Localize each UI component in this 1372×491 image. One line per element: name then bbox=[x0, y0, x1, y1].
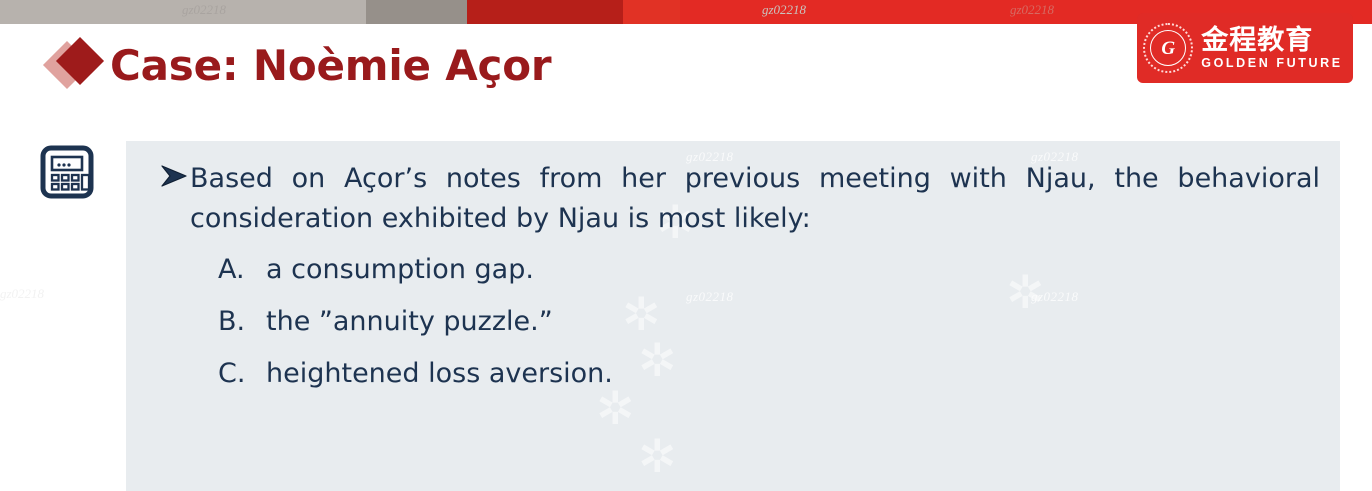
answer-option-b[interactable]: B. the ”annuity puzzle.” bbox=[218, 308, 1324, 335]
logo-chinese-name: 金程教育 bbox=[1201, 27, 1342, 54]
calculator-icon bbox=[38, 143, 96, 201]
question-panel: gz02218 gz02218 gz02218 gz02218 ✲ ✲ ✲ ✲ … bbox=[126, 141, 1340, 491]
top-bar-segment-gray bbox=[366, 0, 467, 24]
question-block: Based on Açor’s notes from her previous … bbox=[142, 159, 1324, 239]
answer-option-key: C. bbox=[218, 360, 266, 387]
arrow-bullet-icon bbox=[142, 159, 190, 192]
diamond-icon bbox=[44, 36, 110, 94]
question-text: Based on Açor’s notes from her previous … bbox=[190, 159, 1324, 239]
answer-option-label: the ”annuity puzzle.” bbox=[266, 308, 1324, 335]
top-bar-segment-light-gray bbox=[0, 0, 366, 24]
top-bar-segment-dark-red bbox=[467, 0, 623, 24]
answer-options-list: A. a consumption gap. B. the ”annuity pu… bbox=[142, 256, 1324, 387]
seal-monogram: G bbox=[1161, 39, 1175, 58]
brand-logo: G 金程教育 GOLDEN FUTURE bbox=[1137, 13, 1353, 83]
watermark-text: gz02218 bbox=[0, 286, 44, 302]
answer-option-label: a consumption gap. bbox=[266, 256, 1324, 283]
answer-option-c[interactable]: C. heightened loss aversion. bbox=[218, 360, 1324, 387]
page-header: Case: Noèmie Açor bbox=[44, 36, 551, 94]
seal-emblem-icon: G bbox=[1143, 23, 1193, 73]
page-title: Case: Noèmie Açor bbox=[110, 41, 551, 90]
answer-option-key: B. bbox=[218, 308, 266, 335]
answer-option-label: heightened loss aversion. bbox=[266, 360, 1324, 387]
snowflake-watermark-icon: ✲ bbox=[596, 385, 635, 431]
snowflake-watermark-icon: ✲ bbox=[638, 433, 677, 479]
logo-text-block: 金程教育 GOLDEN FUTURE bbox=[1201, 27, 1342, 70]
logo-english-name: GOLDEN FUTURE bbox=[1201, 57, 1342, 70]
top-bar-segment-bright-red bbox=[623, 0, 680, 24]
answer-option-a[interactable]: A. a consumption gap. bbox=[218, 256, 1324, 283]
answer-option-key: A. bbox=[218, 256, 266, 283]
